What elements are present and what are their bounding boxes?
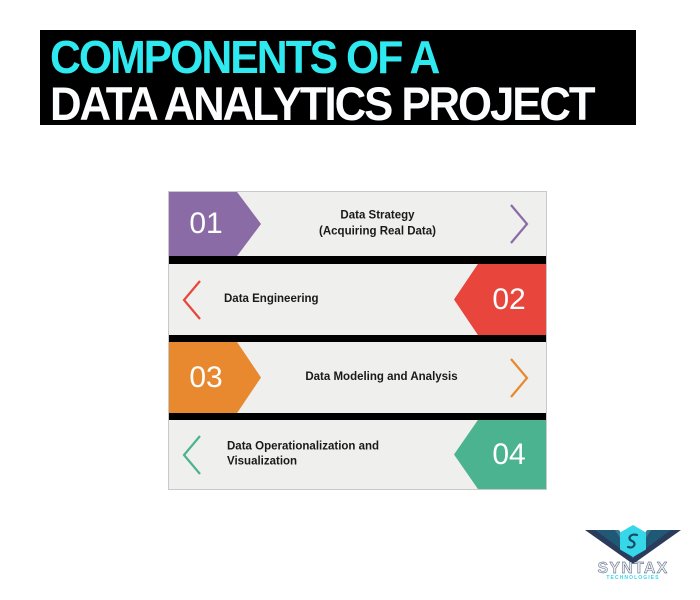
- step-number-04: 04: [492, 438, 525, 472]
- title-band: COMPONENTS OF A DATA ANALYTICS PROJECT: [40, 30, 636, 125]
- chevron-right-icon: [508, 357, 530, 399]
- hexagon-s-icon: [618, 524, 648, 558]
- step-label-04: Data Operationalization and Visualizatio…: [227, 439, 436, 470]
- infographic-row-03[interactable]: 03 Data Modeling and Analysis: [169, 342, 546, 413]
- logo-tagline: TECHNOLOGIES: [585, 575, 681, 581]
- step-number-03: 03: [189, 361, 222, 395]
- infographic-row-01[interactable]: 01 Data Strategy (Acquiring Real Data): [169, 192, 546, 256]
- row-separator-1: [169, 256, 546, 264]
- infographic-stack: 01 Data Strategy (Acquiring Real Data) 0…: [168, 191, 547, 490]
- brand-logo: SYNTAX TECHNOLOGIES: [585, 522, 681, 584]
- step-label-03: Data Modeling and Analysis: [279, 370, 484, 386]
- step-number-badge-03: 03: [169, 342, 261, 413]
- step-number-01: 01: [189, 207, 222, 241]
- chevron-left-icon: [181, 279, 203, 321]
- step-number-02: 02: [492, 283, 525, 317]
- step-label-01: Data Strategy (Acquiring Real Data): [289, 208, 466, 239]
- infographic-row-02[interactable]: 02 Data Engineering: [169, 264, 546, 335]
- infographic-row-04[interactable]: 04 Data Operationalization and Visualiza…: [169, 420, 546, 489]
- page-title-line-2: DATA ANALYTICS PROJECT: [50, 80, 593, 127]
- step-number-badge-01: 01: [169, 192, 261, 256]
- page-title-line-1: COMPONENTS OF A: [50, 34, 438, 80]
- step-number-badge-04: 04: [454, 420, 546, 489]
- step-number-badge-02: 02: [454, 264, 546, 335]
- step-label-02: Data Engineering: [224, 292, 436, 308]
- chevron-right-icon: [508, 203, 530, 245]
- chevron-left-icon: [181, 434, 203, 476]
